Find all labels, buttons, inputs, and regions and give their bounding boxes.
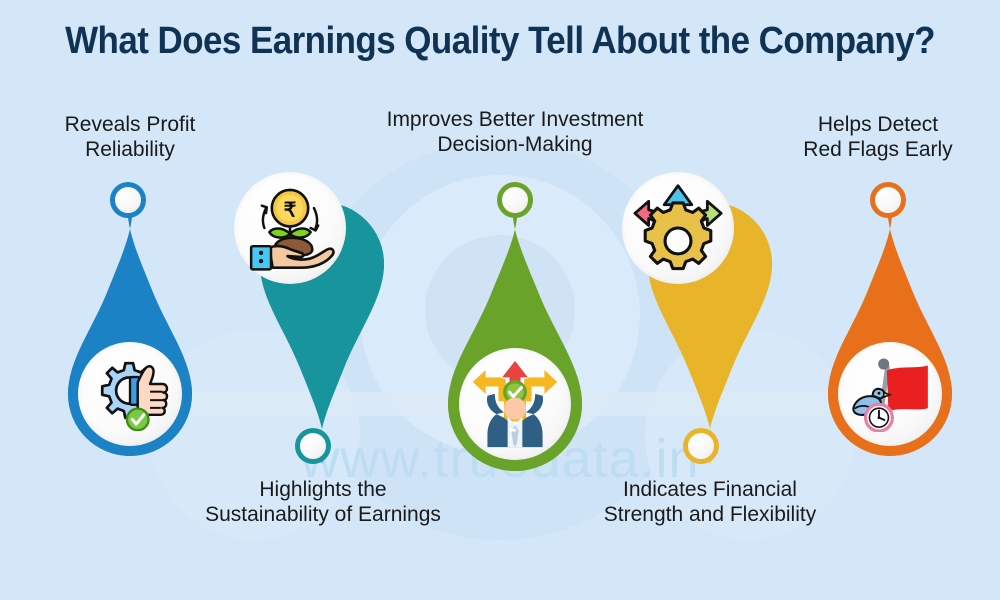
pin-1-dot: [110, 182, 146, 218]
gear-three-arrows-icon: [633, 184, 723, 272]
pin-2-dot: [295, 428, 331, 464]
businessman-arrows-check-icon: [469, 359, 561, 449]
pin-5-icon-circle: [838, 342, 942, 446]
pin-1-icon-circle: [78, 342, 182, 446]
pin-5-label: Helps Detect Red Flags Early: [768, 113, 988, 163]
pin-3-label: Improves Better Investment Decision-Maki…: [345, 108, 685, 158]
pin-3-dot: [497, 182, 533, 218]
pin-1-label: Reveals Profit Reliability: [20, 113, 240, 163]
page-title: What Does Earnings Quality Tell About th…: [40, 20, 960, 63]
pin-3-icon-circle: [459, 348, 571, 460]
red-flag-bird-clock-icon: [849, 356, 931, 432]
pin-2-icon-circle: ₹: [234, 172, 346, 284]
pin-4-icon-circle: [622, 172, 734, 284]
infographic-canvas: www.truedata.in What Does Earnings Quali…: [0, 0, 1000, 600]
pin-5-dot: [870, 182, 906, 218]
svg-text:₹: ₹: [284, 199, 297, 221]
pin-4-dot: [683, 428, 719, 464]
hand-plant-rupee-coin-icon: ₹: [244, 185, 336, 271]
gear-thumbs-up-check-icon: [91, 357, 169, 431]
